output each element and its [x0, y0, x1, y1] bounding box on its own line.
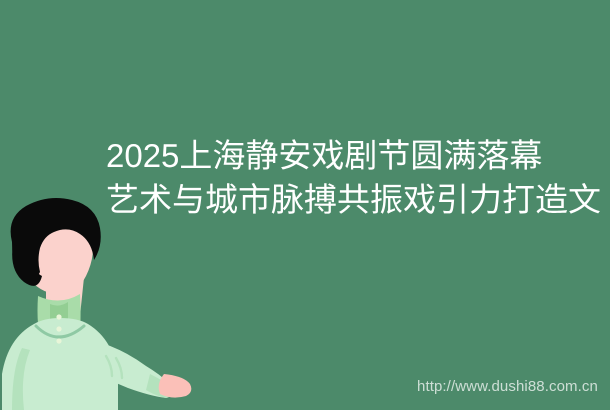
person-illustration-svg — [0, 198, 200, 410]
collar-button-top — [56, 314, 61, 319]
headline: 2025上海静安戏剧节圆满落幕 艺术与城市脉搏共振戏引力打造文 — [106, 134, 606, 222]
person-illustration — [0, 198, 200, 410]
collar-button-middle — [56, 326, 61, 331]
cover-image-canvas: 2025上海静安戏剧节圆满落幕 艺术与城市脉搏共振戏引力打造文 http://w… — [0, 0, 610, 410]
collar-button-bottom — [56, 338, 61, 343]
headline-line-2: 艺术与城市脉搏共振戏引力打造文 — [106, 178, 606, 222]
headline-line-1: 2025上海静安戏剧节圆满落幕 — [106, 134, 606, 178]
hand-shape — [159, 374, 192, 398]
watermark-url: http://www.dushi88.com.cn — [417, 378, 598, 396]
